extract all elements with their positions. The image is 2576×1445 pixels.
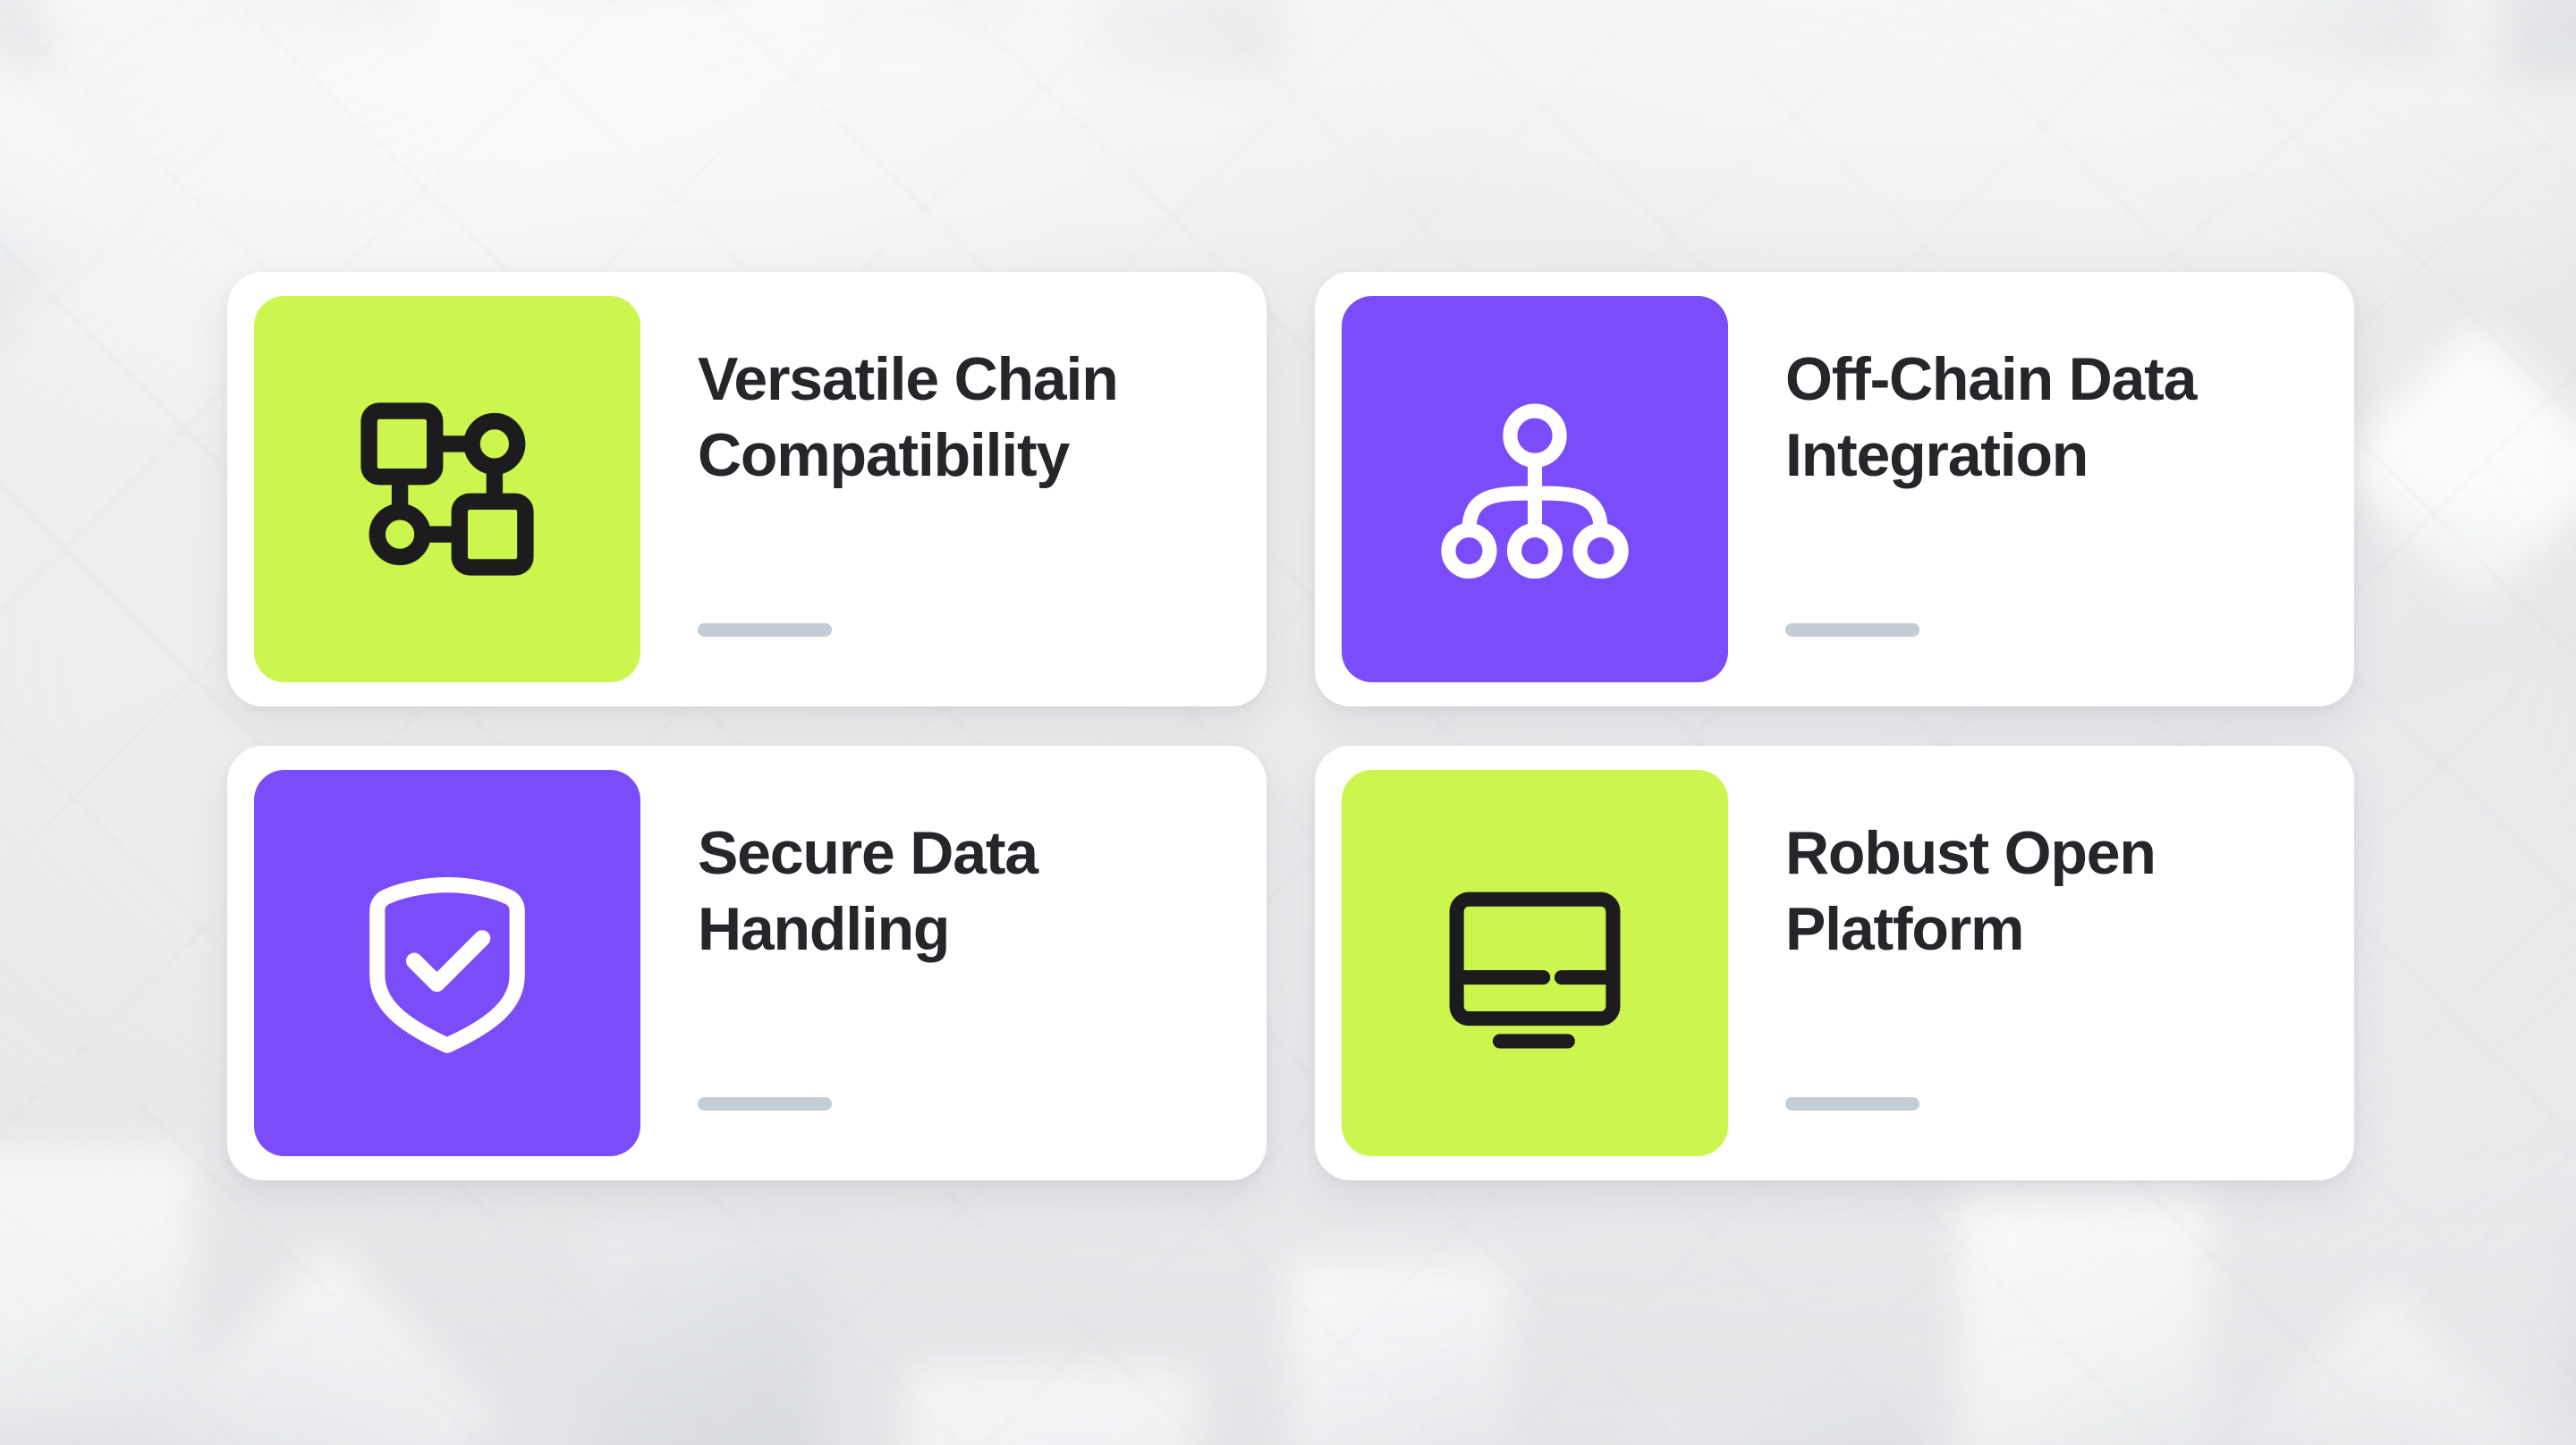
- feature-card-body: Versatile Chain Compatibility: [640, 272, 1267, 706]
- shield-check-icon: [344, 860, 550, 1066]
- feature-card-title: Versatile Chain Compatibility: [698, 342, 1267, 494]
- feature-card-body: Off-Chain Data Integration: [1728, 272, 2354, 706]
- feature-card-meta-bar: [1785, 623, 1919, 637]
- feature-card-grid: Versatile Chain Compatibility Off-Chain …: [227, 272, 2354, 1180]
- nodes-network-icon: [344, 386, 550, 592]
- feature-icon-tile: [1342, 770, 1728, 1156]
- feature-card-off-chain-data-integration[interactable]: Off-Chain Data Integration: [1315, 272, 2354, 706]
- feature-card-title: Robust Open Platform: [1785, 815, 2354, 968]
- feature-card-meta-bar: [698, 1097, 832, 1111]
- feature-card-versatile-chain-compatibility[interactable]: Versatile Chain Compatibility: [227, 272, 1267, 706]
- hierarchy-tree-icon: [1432, 386, 1638, 592]
- feature-icon-tile: [254, 770, 640, 1156]
- feature-icon-tile: [254, 296, 640, 682]
- feature-card-meta-bar: [1785, 1097, 1919, 1111]
- feature-card-robust-open-platform[interactable]: Robust Open Platform: [1315, 746, 2354, 1180]
- feature-card-title: Secure Data Handling: [698, 815, 1267, 968]
- feature-card-secure-data-handling[interactable]: Secure Data Handling: [227, 746, 1267, 1180]
- feature-icon-tile: [1342, 296, 1728, 682]
- feature-card-title: Off-Chain Data Integration: [1785, 342, 2354, 494]
- feature-grid-screen: Versatile Chain Compatibility Off-Chain …: [0, 0, 2576, 1445]
- feature-card-meta-bar: [698, 623, 832, 637]
- feature-card-body: Robust Open Platform: [1728, 746, 2354, 1180]
- feature-card-body: Secure Data Handling: [640, 746, 1267, 1180]
- monitor-icon: [1432, 860, 1638, 1066]
